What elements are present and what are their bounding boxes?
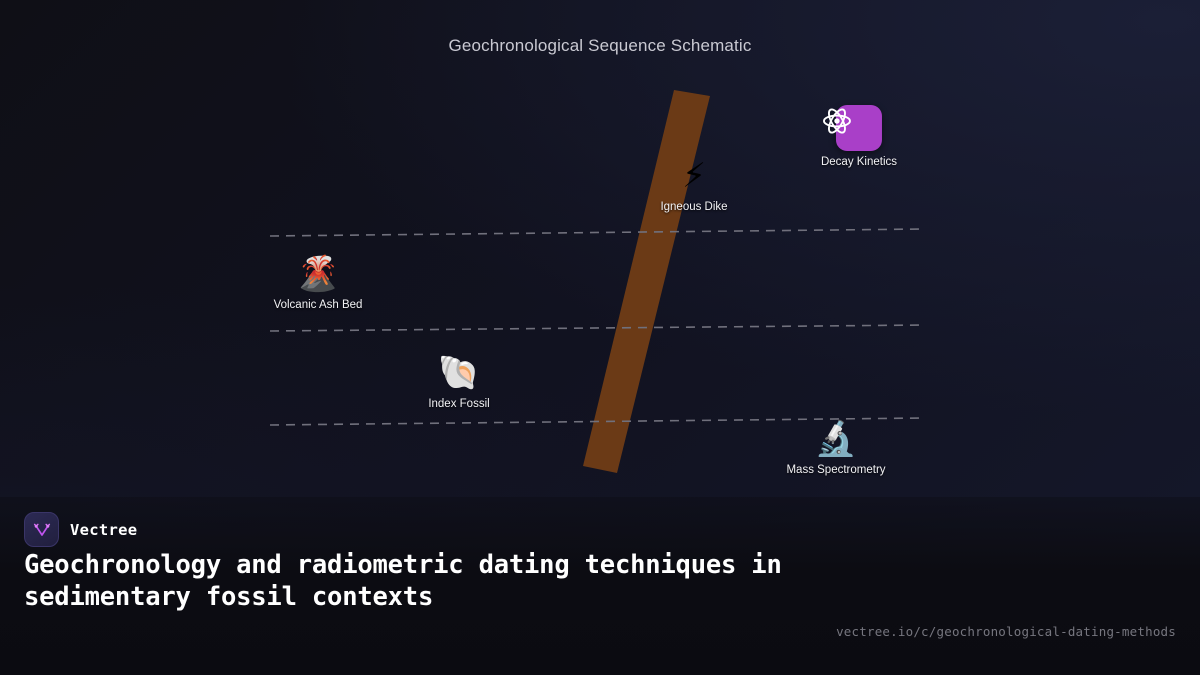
node-label-volcanic-ash-bed: Volcanic Ash Bed: [274, 298, 363, 312]
bedding-plane-middle: [270, 325, 925, 331]
node-label-decay-kinetics: Decay Kinetics: [821, 155, 897, 169]
node-label-index-fossil: Index Fossil: [428, 397, 489, 411]
atom-icon: [821, 105, 853, 137]
bedding-plane-upper: [270, 229, 925, 236]
source-url: vectree.io/c/geochronological-dating-met…: [836, 624, 1176, 639]
node-volcanic-ash-bed[interactable]: 🌋 Volcanic Ash Bed: [274, 254, 363, 312]
node-label-mass-spectrometry: Mass Spectrometry: [786, 463, 885, 477]
node-index-fossil[interactable]: 🐚 Index Fossil: [428, 353, 489, 411]
headline: Geochronology and radiometric dating tec…: [24, 549, 844, 613]
brand-name: Vectree: [70, 521, 137, 539]
brand-row[interactable]: Vectree: [24, 512, 137, 547]
vectree-logo-mark: [24, 512, 59, 547]
schematic-canvas: ⚡ Igneous Dike Decay Kinetics 🌋 Volcani: [0, 0, 1200, 500]
node-decay-kinetics[interactable]: Decay Kinetics: [821, 105, 897, 169]
volcano-icon: 🌋: [274, 254, 363, 294]
schematic-svg: [0, 0, 1200, 500]
node-igneous-dike[interactable]: ⚡ Igneous Dike: [660, 156, 727, 214]
spiral-shell-icon: 🐚: [428, 353, 489, 393]
high-voltage-icon: ⚡: [660, 156, 727, 196]
microscope-icon: 🔬: [786, 419, 885, 459]
screenshot-root: Geochronological Sequence Schematic ⚡ Ig…: [0, 0, 1200, 675]
igneous-dike-body: [583, 90, 710, 473]
vectree-glyph-icon: [32, 520, 52, 540]
node-mass-spectrometry[interactable]: 🔬 Mass Spectrometry: [786, 419, 885, 477]
node-label-igneous-dike: Igneous Dike: [660, 200, 727, 214]
decay-kinetics-badge: [836, 105, 882, 151]
